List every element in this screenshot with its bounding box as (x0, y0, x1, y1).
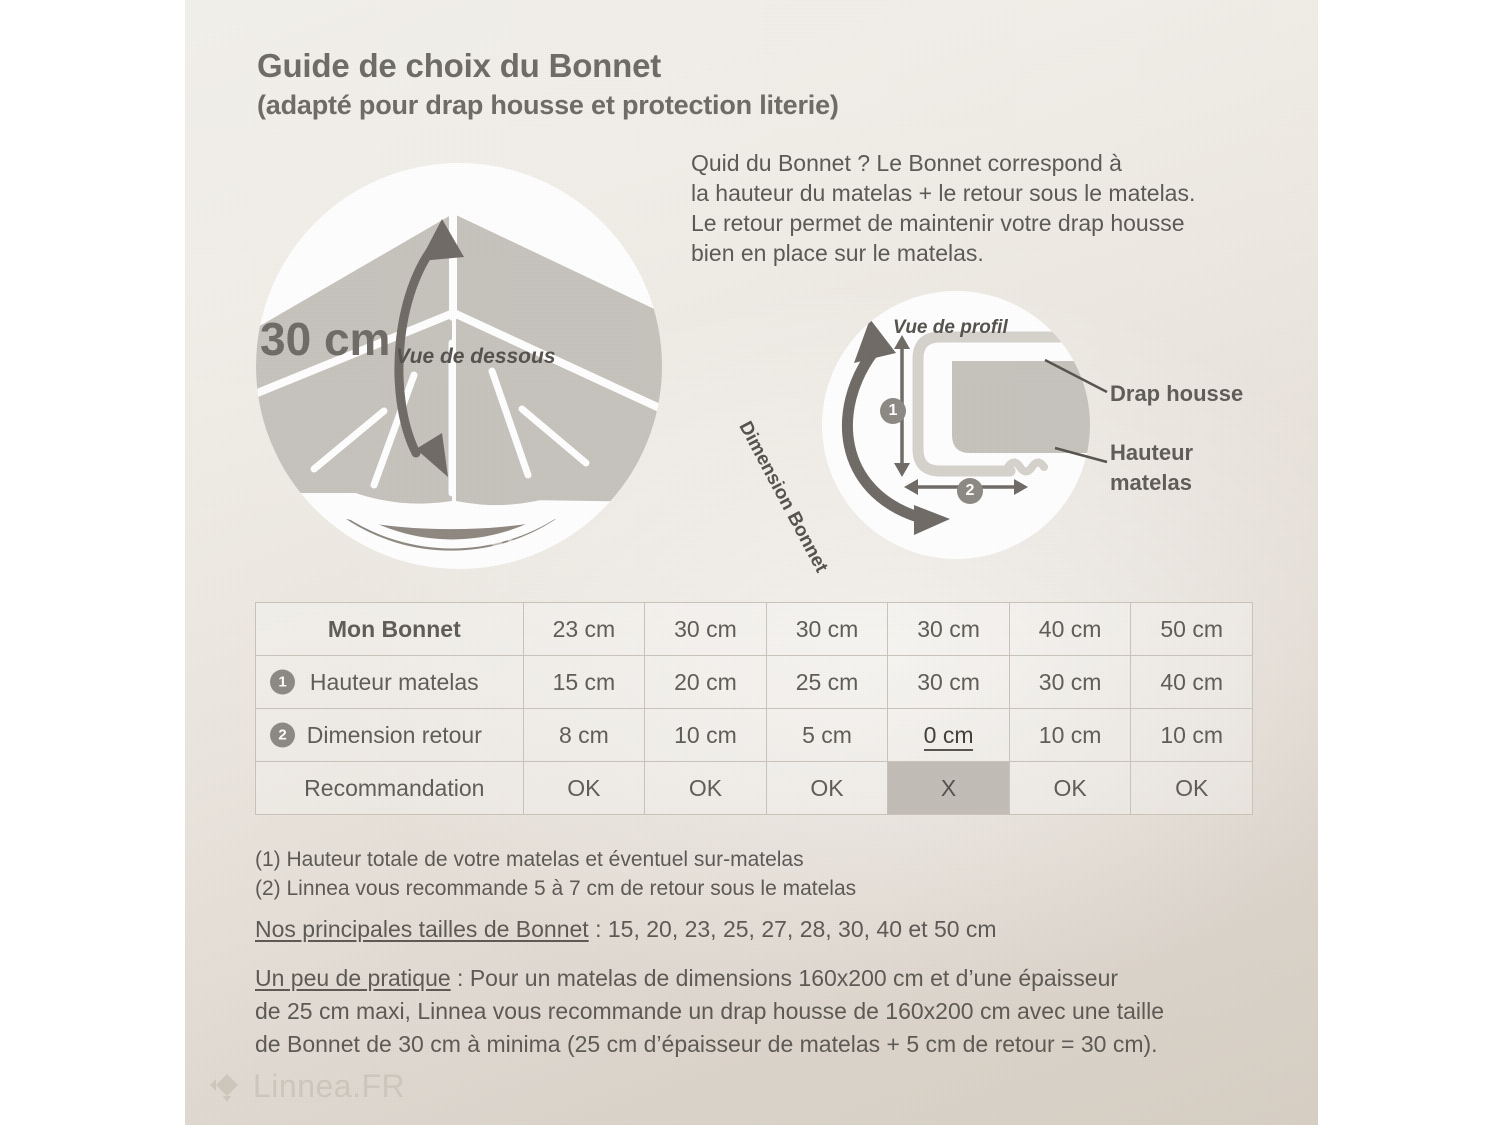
bottom-view-caption: Vue de dessous (396, 345, 556, 369)
row-label-dimension-retour: 2 Dimension retour (256, 709, 524, 762)
cell-hauteur-4: 30 cm (888, 656, 1010, 709)
cell-bonnet-6: 50 cm (1131, 603, 1253, 656)
dimension-bonnet-label: Dimension Bonnet (734, 418, 832, 577)
practice-line-1: Un peu de pratique : Pour un matelas de … (255, 962, 1164, 995)
intro-paragraph: Quid du Bonnet ? Le Bonnet correspond à … (691, 148, 1261, 268)
callout-hauteur-matelas-line2: matelas (1110, 468, 1193, 498)
footnotes: (1) Hauteur totale de votre matelas et é… (255, 845, 856, 903)
callout-hauteur-matelas: Hauteur matelas (1110, 438, 1193, 498)
badge-2-profile: 2 (957, 478, 983, 504)
table-row: Recommandation OK OK OK X OK OK (256, 762, 1253, 815)
diamond-leaf-icon (207, 1070, 241, 1104)
practice-label: Un peu de pratique (255, 965, 451, 991)
cell-bonnet-2: 30 cm (645, 603, 767, 656)
cell-reco-4: X (888, 762, 1010, 815)
infographic-page: Guide de choix du Bonnet (adapté pour dr… (0, 0, 1500, 1125)
row-label-recommandation: Recommandation (256, 762, 524, 815)
table-row: Mon Bonnet 23 cm 30 cm 30 cm 30 cm 40 cm… (256, 603, 1253, 656)
cell-hauteur-1: 15 cm (523, 656, 645, 709)
cell-reco-2: OK (645, 762, 767, 815)
bonnet-measure-label: 30 cm (260, 312, 390, 366)
cell-hauteur-5: 30 cm (1009, 656, 1131, 709)
cell-retour-1: 8 cm (523, 709, 645, 762)
practice-line-2: de 25 cm maxi, Linnea vous recommande un… (255, 995, 1164, 1028)
cell-bonnet-4: 30 cm (888, 603, 1010, 656)
bottom-view-diagram: Vue de dessous (256, 163, 662, 569)
intro-line-3: Le retour permet de maintenir votre drap… (691, 208, 1261, 238)
logo[interactable]: Linnea.FR (207, 1068, 405, 1105)
footnote-2: (2) Linnea vous recommande 5 à 7 cm de r… (255, 874, 856, 903)
row-label-text: Dimension retour (307, 722, 482, 748)
callout-hauteur-matelas-line1: Hauteur (1110, 438, 1193, 468)
sizes-label: Nos principales tailles de Bonnet (255, 916, 589, 942)
intro-line-4: bien en place sur le matelas. (691, 238, 1261, 268)
cell-hauteur-6: 40 cm (1131, 656, 1253, 709)
cell-retour-2: 10 cm (645, 709, 767, 762)
paper-panel: Guide de choix du Bonnet (adapté pour dr… (185, 0, 1318, 1125)
practice-line-1-text: : Pour un matelas de dimensions 160x200 … (451, 965, 1118, 991)
cell-reco-3: OK (766, 762, 888, 815)
cell-retour-5: 10 cm (1009, 709, 1131, 762)
logo-text: Linnea.FR (253, 1068, 405, 1105)
profile-view-caption: Vue de profil (893, 317, 1008, 339)
cell-reco-5: OK (1009, 762, 1131, 815)
row-label-hauteur-matelas: 1 Hauteur matelas (256, 656, 524, 709)
intro-line-1: Quid du Bonnet ? Le Bonnet correspond à (691, 148, 1261, 178)
cell-hauteur-2: 20 cm (645, 656, 767, 709)
bonnet-table: Mon Bonnet 23 cm 30 cm 30 cm 30 cm 40 cm… (255, 602, 1253, 815)
page-subtitle: (adapté pour drap housse et protection l… (257, 90, 839, 121)
bonnet-table-body: Mon Bonnet 23 cm 30 cm 30 cm 30 cm 40 cm… (256, 603, 1253, 815)
badge-2-table: 2 (270, 723, 295, 748)
footnote-1: (1) Hauteur totale de votre matelas et é… (255, 845, 856, 874)
cell-reco-1: OK (523, 762, 645, 815)
cell-reco-6: OK (1131, 762, 1253, 815)
practice-line-3: de Bonnet de 30 cm à minima (25 cm d’épa… (255, 1028, 1164, 1061)
cell-bonnet-5: 40 cm (1009, 603, 1131, 656)
practice-block: Un peu de pratique : Pour un matelas de … (255, 962, 1164, 1061)
cell-retour-6: 10 cm (1131, 709, 1253, 762)
badge-1-profile: 1 (880, 398, 906, 424)
row-label-text: Hauteur matelas (310, 669, 479, 695)
page-title: Guide de choix du Bonnet (257, 47, 661, 85)
table-row: 2 Dimension retour 8 cm 10 cm 5 cm 0 cm … (256, 709, 1253, 762)
cell-bonnet-3: 30 cm (766, 603, 888, 656)
table-row: 1 Hauteur matelas 15 cm 20 cm 25 cm 30 c… (256, 656, 1253, 709)
badge-1-table: 1 (270, 670, 295, 695)
callout-drap-housse: Drap housse (1110, 381, 1243, 407)
cell-retour-3: 5 cm (766, 709, 888, 762)
sizes-value: : 15, 20, 23, 25, 27, 28, 30, 40 et 50 c… (589, 916, 997, 942)
row-label-text: Recommandation (304, 775, 484, 801)
row-label-mon-bonnet: Mon Bonnet (256, 603, 524, 656)
sizes-line: Nos principales tailles de Bonnet : 15, … (255, 916, 997, 943)
cell-bonnet-1: 23 cm (523, 603, 645, 656)
intro-line-2: la hauteur du matelas + le retour sous l… (691, 178, 1261, 208)
cell-hauteur-3: 25 cm (766, 656, 888, 709)
cell-retour-4: 0 cm (888, 709, 1010, 762)
cell-retour-4-value: 0 cm (924, 722, 974, 751)
row-label-text: Mon Bonnet (328, 616, 461, 642)
